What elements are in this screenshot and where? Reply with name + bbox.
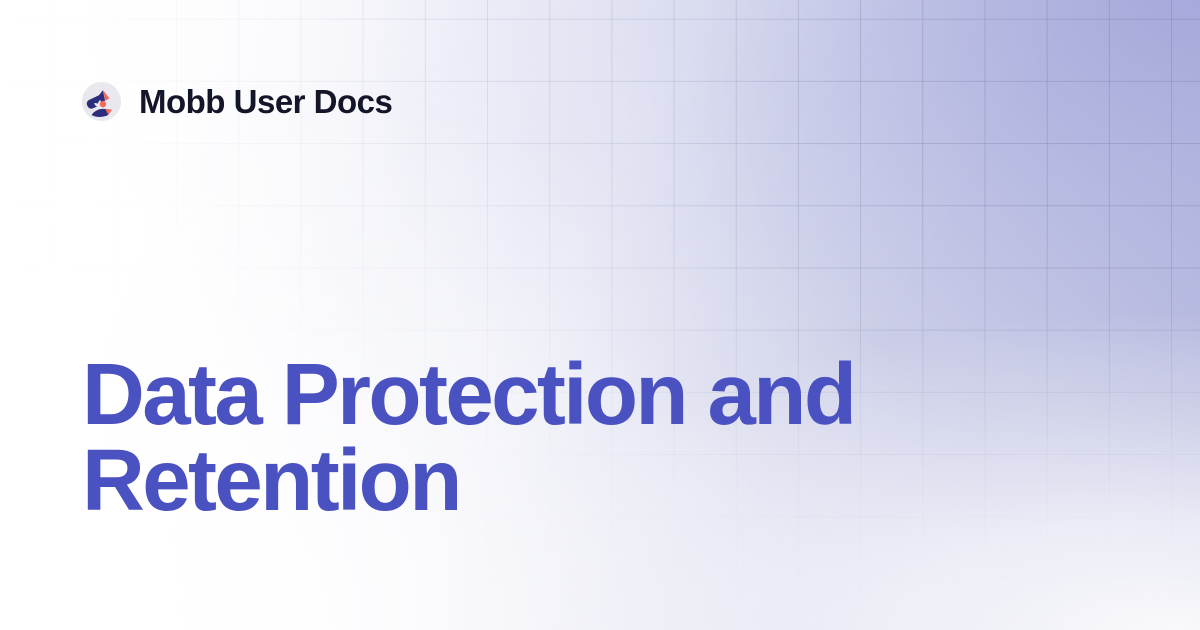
brand-title: Mobb User Docs xyxy=(139,85,392,118)
og-card: Mobb User Docs Data Protection and Reten… xyxy=(0,0,1200,630)
mobb-logo-icon xyxy=(82,82,121,121)
brand[interactable]: Mobb User Docs xyxy=(82,82,392,121)
page-title: Data Protection and Retention xyxy=(82,352,1042,524)
